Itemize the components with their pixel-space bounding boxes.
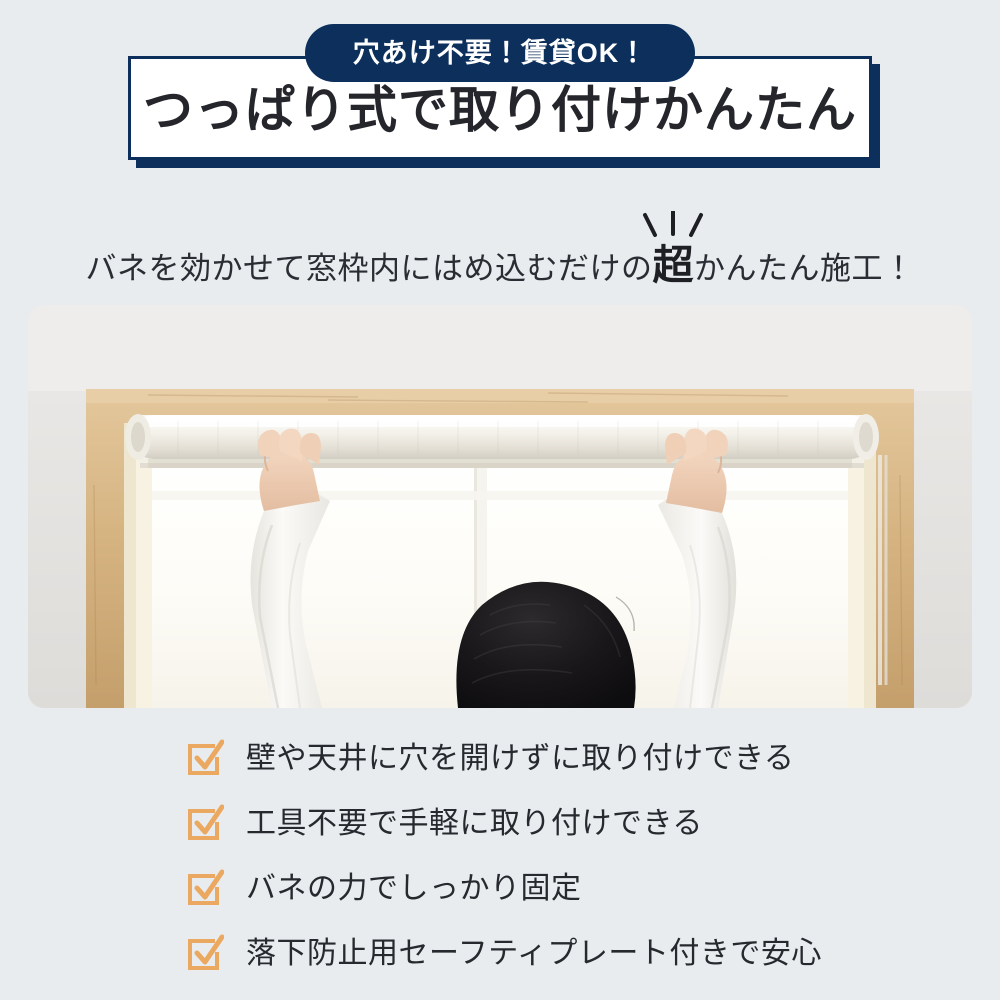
subtitle: バネを効かせて窓枠内にはめ込むだけの 超かんたん施工！ [86,245,915,286]
subtitle-row: バネを効かせて窓枠内にはめ込むだけの 超かんたん施工！ [0,208,1000,286]
list-item: 落下防止用セーフティプレート付きで安心 [0,921,1000,986]
list-item: バネの力でしっかり固定 [0,856,1000,921]
subtitle-after: かんたん施工！ [694,253,915,284]
subtitle-before: バネを効かせて窓枠内にはめ込むだけの [86,253,653,284]
list-item-label: 壁や天井に穴を開けずに取り付けできる [246,744,794,774]
feature-checklist: 壁や天井に穴を開けずに取り付けできる 工具不要で手軽に取り付けできる バネの力で… [0,726,1000,986]
promo-page: つっぱり式で取り付けかんたん 穴あけ不要！賃貸OK！ バネを効かせて窓枠内にはめ… [0,0,1000,1000]
checkbox-checked-icon [186,739,224,777]
list-item-label: 落下防止用セーフティプレート付きで安心 [246,939,822,969]
checkbox-checked-icon [186,804,224,842]
list-item: 壁や天井に穴を開けずに取り付けできる [0,726,1000,791]
list-item-label: 工具不要で手軽に取り付けできる [246,809,703,839]
subtitle-emphasis: 超 [653,242,695,288]
list-item-label: バネの力でしっかり固定 [246,874,582,904]
checkbox-checked-icon [186,869,224,907]
installation-photo-illustration [28,305,972,708]
page-title: つっぱり式で取り付けかんたん [143,85,857,135]
product-photo [28,305,972,708]
list-item: 工具不要で手軽に取り付けできる [0,791,1000,856]
badge-label: 穴あけ不要！賃貸OK！ [353,40,648,67]
emphasis-wrap: 超 [653,245,695,286]
checkbox-checked-icon [186,934,224,972]
status-badge: 穴あけ不要！賃貸OK！ [305,24,695,82]
header-block: つっぱり式で取り付けかんたん 穴あけ不要！賃貸OK！ [0,0,1000,190]
sparkle-icon [635,211,711,241]
